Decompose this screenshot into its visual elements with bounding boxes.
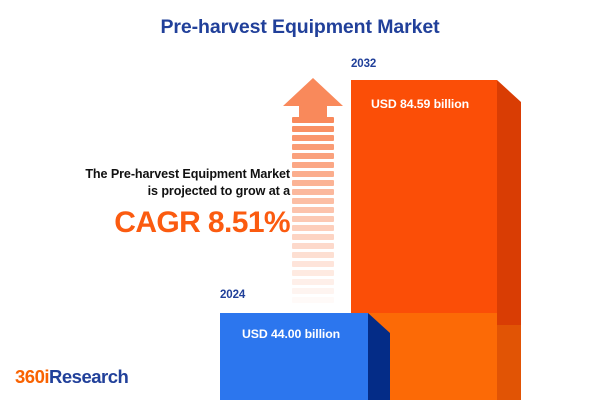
arrow-head-icon xyxy=(283,78,343,118)
infographic-canvas: Pre-harvest Equipment Market The Pre-har… xyxy=(0,0,600,400)
bar-value-label-2024: USD 44.00 billion xyxy=(242,327,340,341)
arrow-stripe xyxy=(292,279,334,285)
growth-arrow-icon xyxy=(283,78,345,293)
arrow-stripe xyxy=(292,180,334,186)
statement-line-1: The Pre-harvest Equipment Market xyxy=(8,166,290,183)
arrow-stripe xyxy=(292,162,334,168)
arrow-stripe xyxy=(292,306,334,312)
arrow-stripe xyxy=(292,189,334,195)
bar-year-label-2024: 2024 xyxy=(220,289,245,301)
arrow-stripe xyxy=(292,144,334,150)
statement-line-2: is projected to grow at a xyxy=(8,183,290,200)
cagr-value: CAGR 8.51% xyxy=(8,204,290,242)
arrow-stripe xyxy=(292,234,334,240)
arrow-stripe xyxy=(292,243,334,249)
arrow-stripe xyxy=(292,153,334,159)
arrow-stripe xyxy=(292,135,334,141)
arrow-stripe xyxy=(292,297,334,303)
arrow-stripe xyxy=(292,216,334,222)
bar-2032-side-upper xyxy=(497,80,521,325)
arrow-stripe xyxy=(292,288,334,294)
logo[interactable]: 360iResearch xyxy=(15,366,128,388)
logo-prefix: 360i xyxy=(15,366,49,387)
cagr-statement: The Pre-harvest Equipment Market is proj… xyxy=(8,166,290,242)
arrow-stripe xyxy=(292,198,334,204)
arrow-stripe xyxy=(292,225,334,231)
page-title: Pre-harvest Equipment Market xyxy=(0,16,600,39)
arrow-shaft-stripes xyxy=(292,117,334,293)
arrow-stripe xyxy=(292,207,334,213)
logo-suffix: Research xyxy=(49,366,128,387)
arrow-stripe xyxy=(292,126,334,132)
bar-value-label-2032: USD 84.59 billion xyxy=(371,97,469,111)
arrow-stripe xyxy=(292,270,334,276)
arrow-stripe xyxy=(292,117,334,123)
bar-2024-side xyxy=(368,313,390,400)
bar-2032-side-lower xyxy=(497,325,521,400)
bar-2032-face-upper xyxy=(351,80,497,313)
arrow-stripe xyxy=(292,252,334,258)
arrow-stripe xyxy=(292,261,334,267)
bar-year-label-2032: 2032 xyxy=(351,58,376,70)
arrow-stripe xyxy=(292,171,334,177)
